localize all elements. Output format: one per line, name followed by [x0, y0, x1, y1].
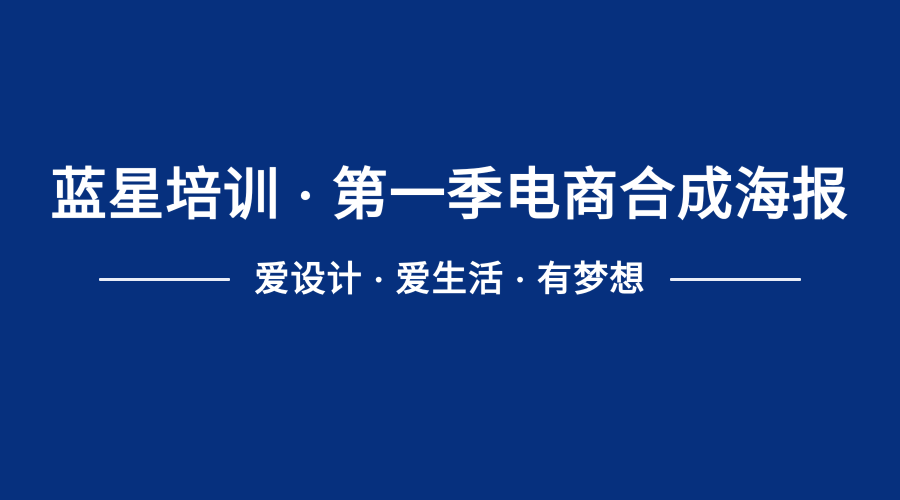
page-subtitle: 爱设计 · 爱生活 · 有梦想 [252, 262, 647, 297]
poster-banner: 蓝星培训 · 第一季电商合成海报 爱设计 · 爱生活 · 有梦想 [0, 0, 900, 500]
decorative-rule-left [99, 278, 230, 281]
poster-content: 蓝星培训 · 第一季电商合成海报 爱设计 · 爱生活 · 有梦想 [0, 168, 900, 297]
decorative-rule-right [670, 278, 801, 281]
subtitle-row: 爱设计 · 爱生活 · 有梦想 [99, 262, 800, 297]
page-title: 蓝星培训 · 第一季电商合成海报 [51, 168, 850, 224]
